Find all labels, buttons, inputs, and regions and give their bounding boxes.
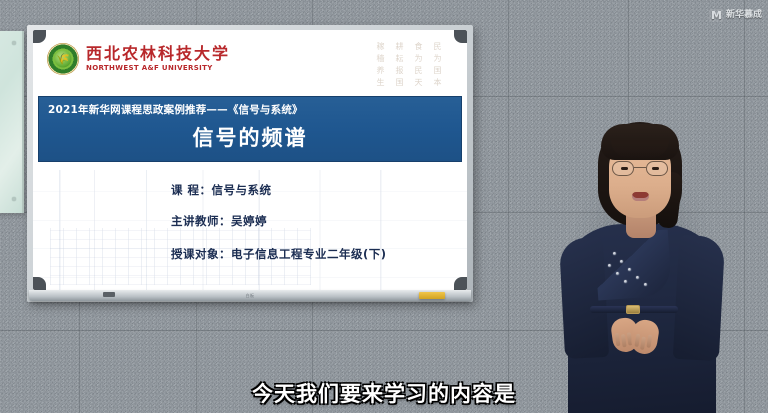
calligraphy-column: 耕耘报国	[395, 42, 403, 90]
finger	[646, 335, 652, 348]
eye-right	[652, 167, 659, 170]
tray-clip	[103, 292, 115, 297]
slide-info-instructor: 主讲教师：吴婷婷	[171, 213, 467, 229]
presenter	[556, 120, 726, 413]
slide-title-banner: 2021年新华网课程思政案例推荐——《信号与系统》 信号的频谱	[38, 96, 462, 162]
wheat-icon: 🌾	[56, 53, 70, 64]
whiteboard-surface: 🌾 西北农林科技大学 NORTHWEST A&F UNIVERSITY 民为国本…	[33, 30, 467, 290]
university-branding: 🌾 西北农林科技大学 NORTHWEST A&F UNIVERSITY	[47, 43, 230, 75]
calligraphy-column: 食为民天	[414, 42, 422, 90]
whiteboard-corner	[454, 277, 467, 290]
slide-eyebrow-text: 2021年新华网课程思政案例推荐——《信号与系统》	[48, 102, 303, 117]
presenter-mouth	[632, 192, 649, 201]
video-subtitle: 今天我们要来学习的内容是	[0, 378, 768, 408]
finger	[621, 334, 627, 347]
finger	[615, 333, 621, 346]
university-emblem-icon: 🌾	[47, 43, 79, 75]
panel-screw	[12, 41, 16, 45]
glasses-lens-right	[646, 161, 668, 176]
university-name-cn: 西北农林科技大学	[86, 46, 230, 63]
presenter-arm-right	[673, 235, 725, 361]
finger	[640, 337, 646, 350]
presenter-glasses	[611, 161, 669, 176]
whiteboard-corner	[454, 30, 467, 43]
wall-seam-vertical	[744, 0, 746, 413]
broadcaster-watermark: M 新华慕成	[709, 9, 762, 22]
slide-info-list: 课 程：信号与系统 主讲教师：吴婷婷 授课对象：电子信息工程专业二年级(下)	[33, 182, 467, 262]
presenter-hair-front	[601, 124, 679, 160]
slide-title: 信号的频谱	[39, 122, 461, 152]
finger	[634, 334, 640, 347]
university-name-en: NORTHWEST A&F UNIVERSITY	[86, 64, 230, 72]
presenter-belt-buckle	[626, 305, 640, 314]
watermark-brand-text: 新华慕成	[726, 11, 762, 20]
slide-info-audience: 授课对象：电子信息工程专业二年级(下)	[171, 246, 467, 262]
eye-left	[621, 167, 628, 170]
calligraphy-column: 民为国本	[433, 42, 441, 90]
video-frame: 🌾 西北农林科技大学 NORTHWEST A&F UNIVERSITY 民为国本…	[0, 0, 768, 413]
calligraphy-column: 稼穑养生	[376, 42, 384, 90]
glasses-lens-left	[612, 161, 634, 176]
slide-calligraphy-watermark: 民为国本 食为民天 耕耘报国 稼穑养生	[376, 42, 441, 90]
wall-seam-vertical	[508, 0, 510, 413]
watermark-logo-icon: M	[709, 9, 723, 22]
whiteboard-pen-tray: 白板	[29, 290, 471, 301]
whiteboard: 🌾 西北农林科技大学 NORTHWEST A&F UNIVERSITY 民为国本…	[27, 25, 473, 302]
slide-info-course: 课 程：信号与系统	[171, 182, 467, 198]
glasses-bridge	[634, 167, 646, 168]
whiteboard-corner	[33, 277, 46, 290]
wall-glass-panel	[0, 31, 24, 213]
tray-label: 白板	[246, 293, 255, 299]
university-name-block: 西北农林科技大学 NORTHWEST A&F UNIVERSITY	[86, 46, 230, 72]
presentation-slide: 🌾 西北农林科技大学 NORTHWEST A&F UNIVERSITY 民为国本…	[33, 30, 467, 290]
panel-screw	[12, 197, 16, 201]
whiteboard-eraser	[419, 292, 445, 299]
